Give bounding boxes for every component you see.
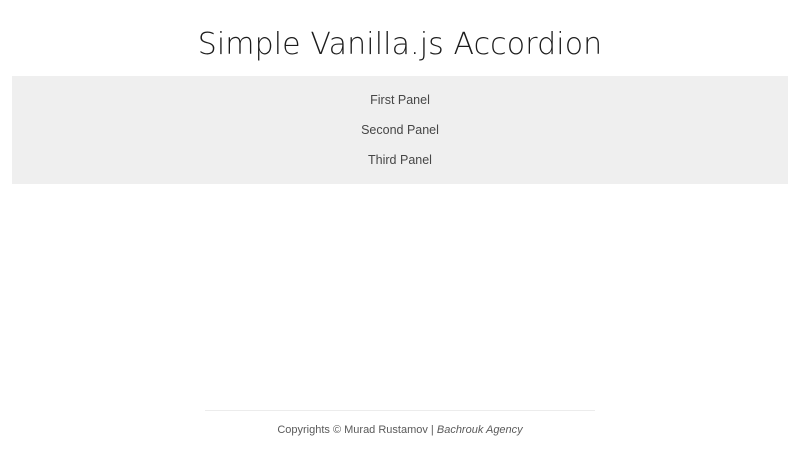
accordion-header-first-panel[interactable]: First Panel	[12, 85, 788, 115]
accordion-item: Second Panel	[12, 115, 788, 145]
accordion: First Panel Second Panel Third Panel	[12, 76, 788, 184]
accordion-header-third-panel[interactable]: Third Panel	[12, 145, 788, 175]
accordion-item: Third Panel	[12, 145, 788, 175]
page-root: Simple Vanilla.js Accordion First Panel …	[0, 0, 800, 450]
accordion-item: First Panel	[12, 85, 788, 115]
footer-copyright-text: Copyrights © Murad Rustamov |	[277, 424, 437, 436]
accordion-header-second-panel[interactable]: Second Panel	[12, 115, 788, 145]
page-title: Simple Vanilla.js Accordion	[0, 0, 800, 64]
content-spacer	[0, 184, 800, 416]
site-footer: Copyrights © Murad Rustamov | Bachrouk A…	[0, 410, 800, 450]
footer-credit: Copyrights © Murad Rustamov | Bachrouk A…	[0, 411, 800, 438]
footer-agency-link[interactable]: Bachrouk Agency	[437, 424, 523, 436]
